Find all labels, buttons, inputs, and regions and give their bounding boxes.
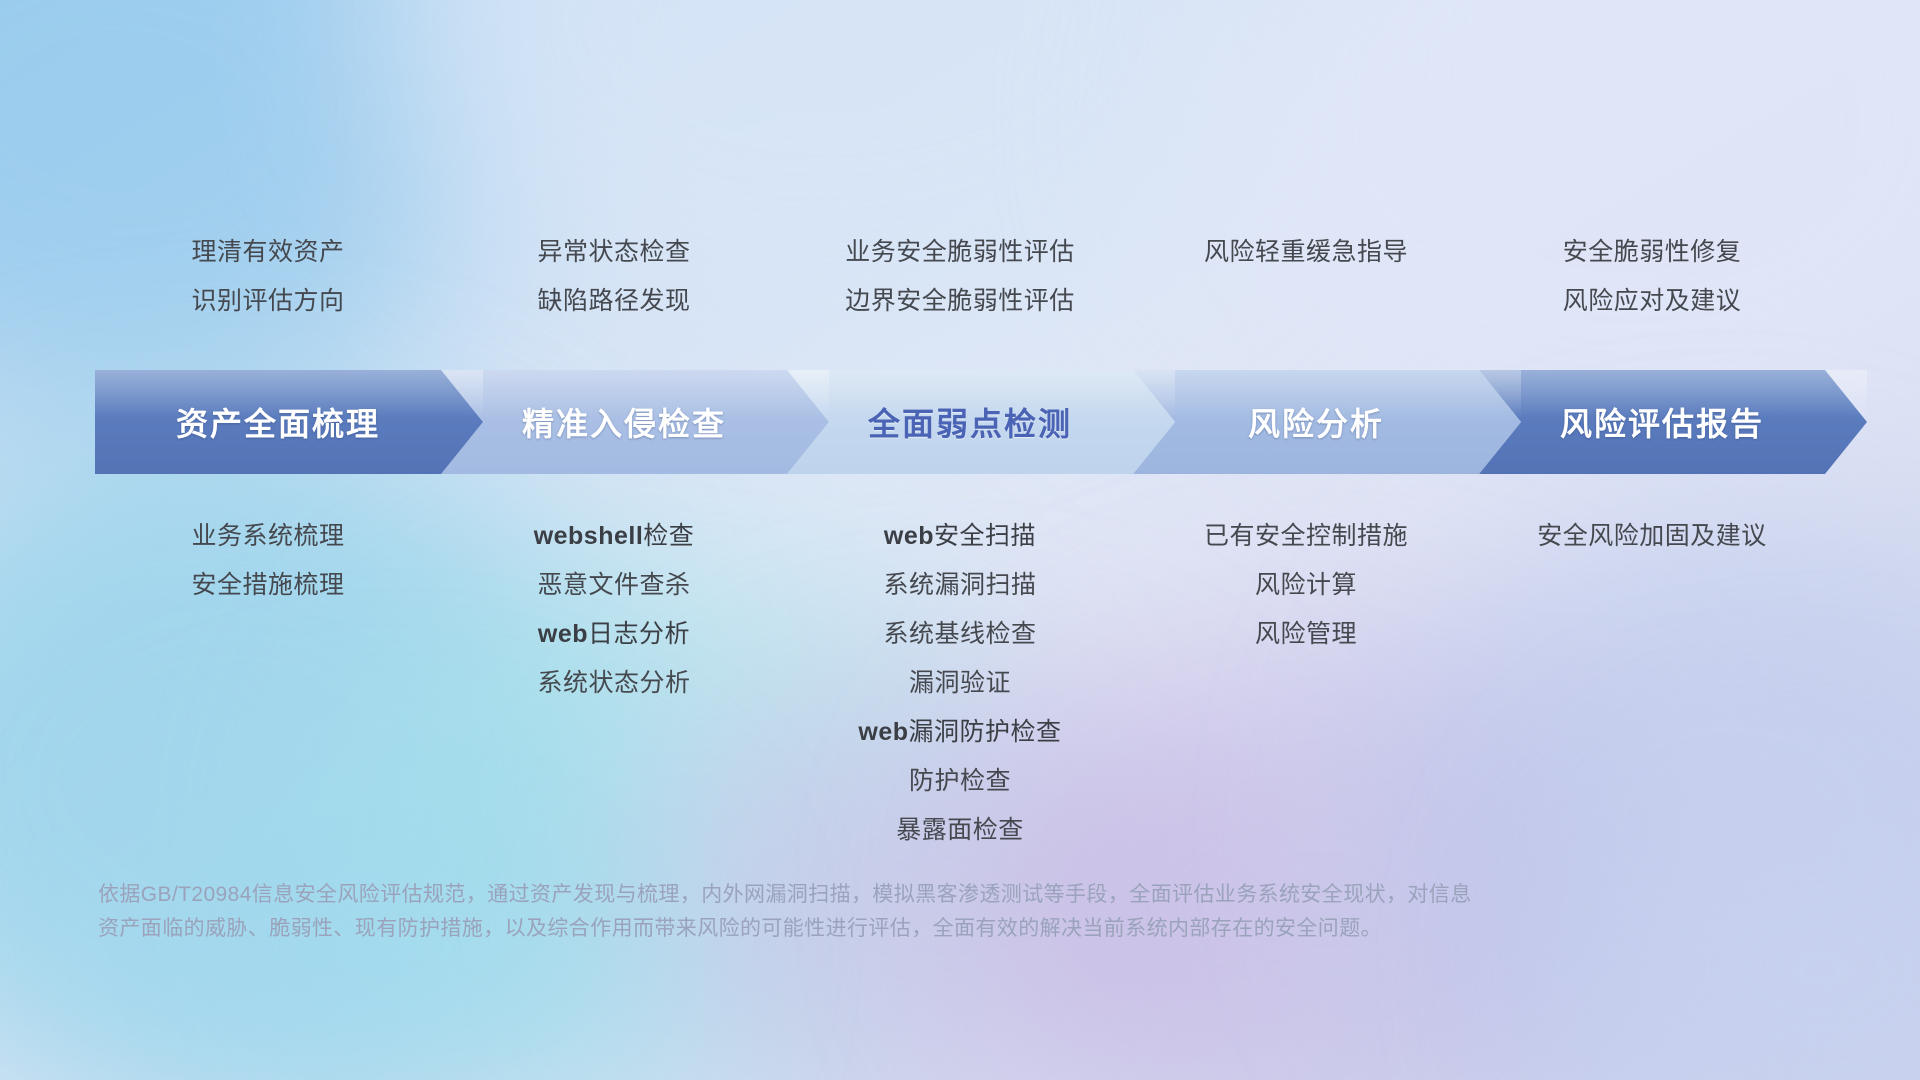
bottom-item: 风险管理 [1255, 610, 1357, 659]
stage-arrow-4[interactable]: 风险分析 [1133, 370, 1521, 474]
bottom-column-2: webshell检查恶意文件查杀web日志分析系统状态分析 [441, 512, 787, 708]
top-column-2: 异常状态检查缺陷路径发现 [441, 228, 787, 326]
bottom-column-3: web安全扫描系统漏洞扫描系统基线检查漏洞验证web漏洞防护检查防护检查暴露面检… [787, 512, 1133, 855]
bottom-item: 风险计算 [1255, 561, 1357, 610]
stage-arrow-2[interactable]: 精准入侵检查 [441, 370, 829, 474]
top-column-4: 风险轻重缓急指导 [1133, 228, 1479, 326]
top-item: 安全脆弱性修复 [1563, 228, 1742, 277]
top-items-row: 理清有效资产识别评估方向 异常状态检查缺陷路径发现 业务安全脆弱性评估边界安全脆… [95, 228, 1825, 326]
bottom-item: 安全风险加固及建议 [1537, 512, 1767, 561]
top-column-1: 理清有效资产识别评估方向 [95, 228, 441, 326]
stage-title-3: 全面弱点检测 [868, 399, 1072, 445]
bottom-column-5: 安全风险加固及建议 [1479, 512, 1825, 561]
bottom-item: 安全措施梳理 [191, 561, 344, 610]
top-item: 风险应对及建议 [1563, 277, 1742, 326]
top-item: 缺陷路径发现 [537, 277, 690, 326]
top-item: 异常状态检查 [537, 228, 690, 277]
stage-title-5: 风险评估报告 [1560, 399, 1764, 445]
bottom-item: webshell检查 [534, 512, 695, 561]
bottom-item: 防护检查 [909, 757, 1011, 806]
footer-description: 依据GB/T20984信息安全风险评估规范，通过资产发现与梳理，内外网漏洞扫描，… [98, 878, 1598, 946]
stage-title-2: 精准入侵检查 [522, 399, 726, 445]
bottom-item: web安全扫描 [884, 512, 1036, 561]
bottom-item: web日志分析 [538, 610, 690, 659]
stage-title-4: 风险分析 [1248, 399, 1384, 445]
top-column-5: 安全脆弱性修复风险应对及建议 [1479, 228, 1825, 326]
bottom-item: 已有安全控制措施 [1204, 512, 1408, 561]
top-item: 理清有效资产 [191, 228, 344, 277]
top-item: 识别评估方向 [191, 277, 344, 326]
bottom-item: 系统基线检查 [883, 610, 1036, 659]
bottom-item: 系统漏洞扫描 [883, 561, 1036, 610]
bottom-item: 系统状态分析 [537, 659, 690, 708]
top-item: 业务安全脆弱性评估 [845, 228, 1075, 277]
footer-line-2: 资产面临的威胁、脆弱性、现有防护措施，以及综合作用而带来风险的可能性进行评估，全… [98, 912, 1598, 946]
bottom-item: 漏洞验证 [909, 659, 1011, 708]
bottom-item: 恶意文件查杀 [537, 561, 690, 610]
top-column-3: 业务安全脆弱性评估边界安全脆弱性评估 [787, 228, 1133, 326]
stage-arrow-5[interactable]: 风险评估报告 [1479, 370, 1867, 474]
process-flow: 理清有效资产识别评估方向 异常状态检查缺陷路径发现 业务安全脆弱性评估边界安全脆… [0, 0, 1920, 1080]
bottom-item: web漏洞防护检查 [858, 708, 1061, 757]
diagram-canvas: 理清有效资产识别评估方向 异常状态检查缺陷路径发现 业务安全脆弱性评估边界安全脆… [0, 0, 1920, 1080]
stage-title-1: 资产全面梳理 [176, 399, 380, 445]
stage-arrow-1[interactable]: 资产全面梳理 [95, 370, 483, 474]
footer-line-1: 依据GB/T20984信息安全风险评估规范，通过资产发现与梳理，内外网漏洞扫描，… [98, 878, 1598, 912]
bottom-item: 业务系统梳理 [191, 512, 344, 561]
top-item: 风险轻重缓急指导 [1204, 228, 1408, 277]
stage-arrow-3[interactable]: 全面弱点检测 [787, 370, 1175, 474]
bottom-column-4: 已有安全控制措施风险计算风险管理 [1133, 512, 1479, 659]
bottom-column-1: 业务系统梳理安全措施梳理 [95, 512, 441, 610]
bottom-items-row: 业务系统梳理安全措施梳理 webshell检查恶意文件查杀web日志分析系统状态… [95, 512, 1825, 855]
bottom-item: 暴露面检查 [896, 806, 1024, 855]
stage-banner: 资产全面梳理精准入侵检查全面弱点检测风险分析风险评估报告 [95, 370, 1825, 474]
top-item: 边界安全脆弱性评估 [845, 277, 1075, 326]
